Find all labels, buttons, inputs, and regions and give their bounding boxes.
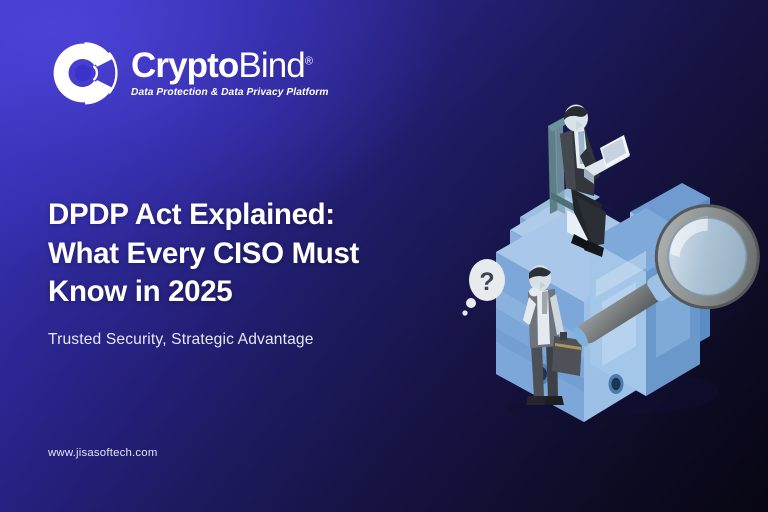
headline-line-2: What Every CISO Must [48, 235, 359, 274]
website-url[interactable]: www.jisasoftech.com [48, 447, 158, 459]
headline-line-1: DPDP Act Explained: [48, 196, 359, 235]
brand-wordmark: CryptoBind® [131, 48, 329, 84]
headline-line-3: Know in 2025 [48, 273, 359, 312]
brand-tagline: Data Protection & Data Privacy Platform [131, 87, 329, 98]
marketing-banner: CryptoBind® Data Protection & Data Priva… [0, 0, 768, 512]
subheadline: Trusted Security, Strategic Advantage [48, 331, 314, 349]
wordmark-bind: Bind [238, 46, 304, 85]
isometric-binders-magnifier-illustration: ? [424, 92, 768, 452]
wordmark-crypto: Crypto [131, 46, 238, 85]
brand-logo[interactable]: CryptoBind® Data Protection & Data Priva… [48, 38, 329, 108]
registered-trademark-icon: ® [305, 56, 313, 68]
logo-text-block: CryptoBind® Data Protection & Data Priva… [131, 48, 329, 98]
question-mark-glyph: ? [479, 268, 494, 296]
page-title: DPDP Act Explained: What Every CISO Must… [48, 196, 359, 312]
crypto-bind-disc-icon [48, 38, 118, 108]
